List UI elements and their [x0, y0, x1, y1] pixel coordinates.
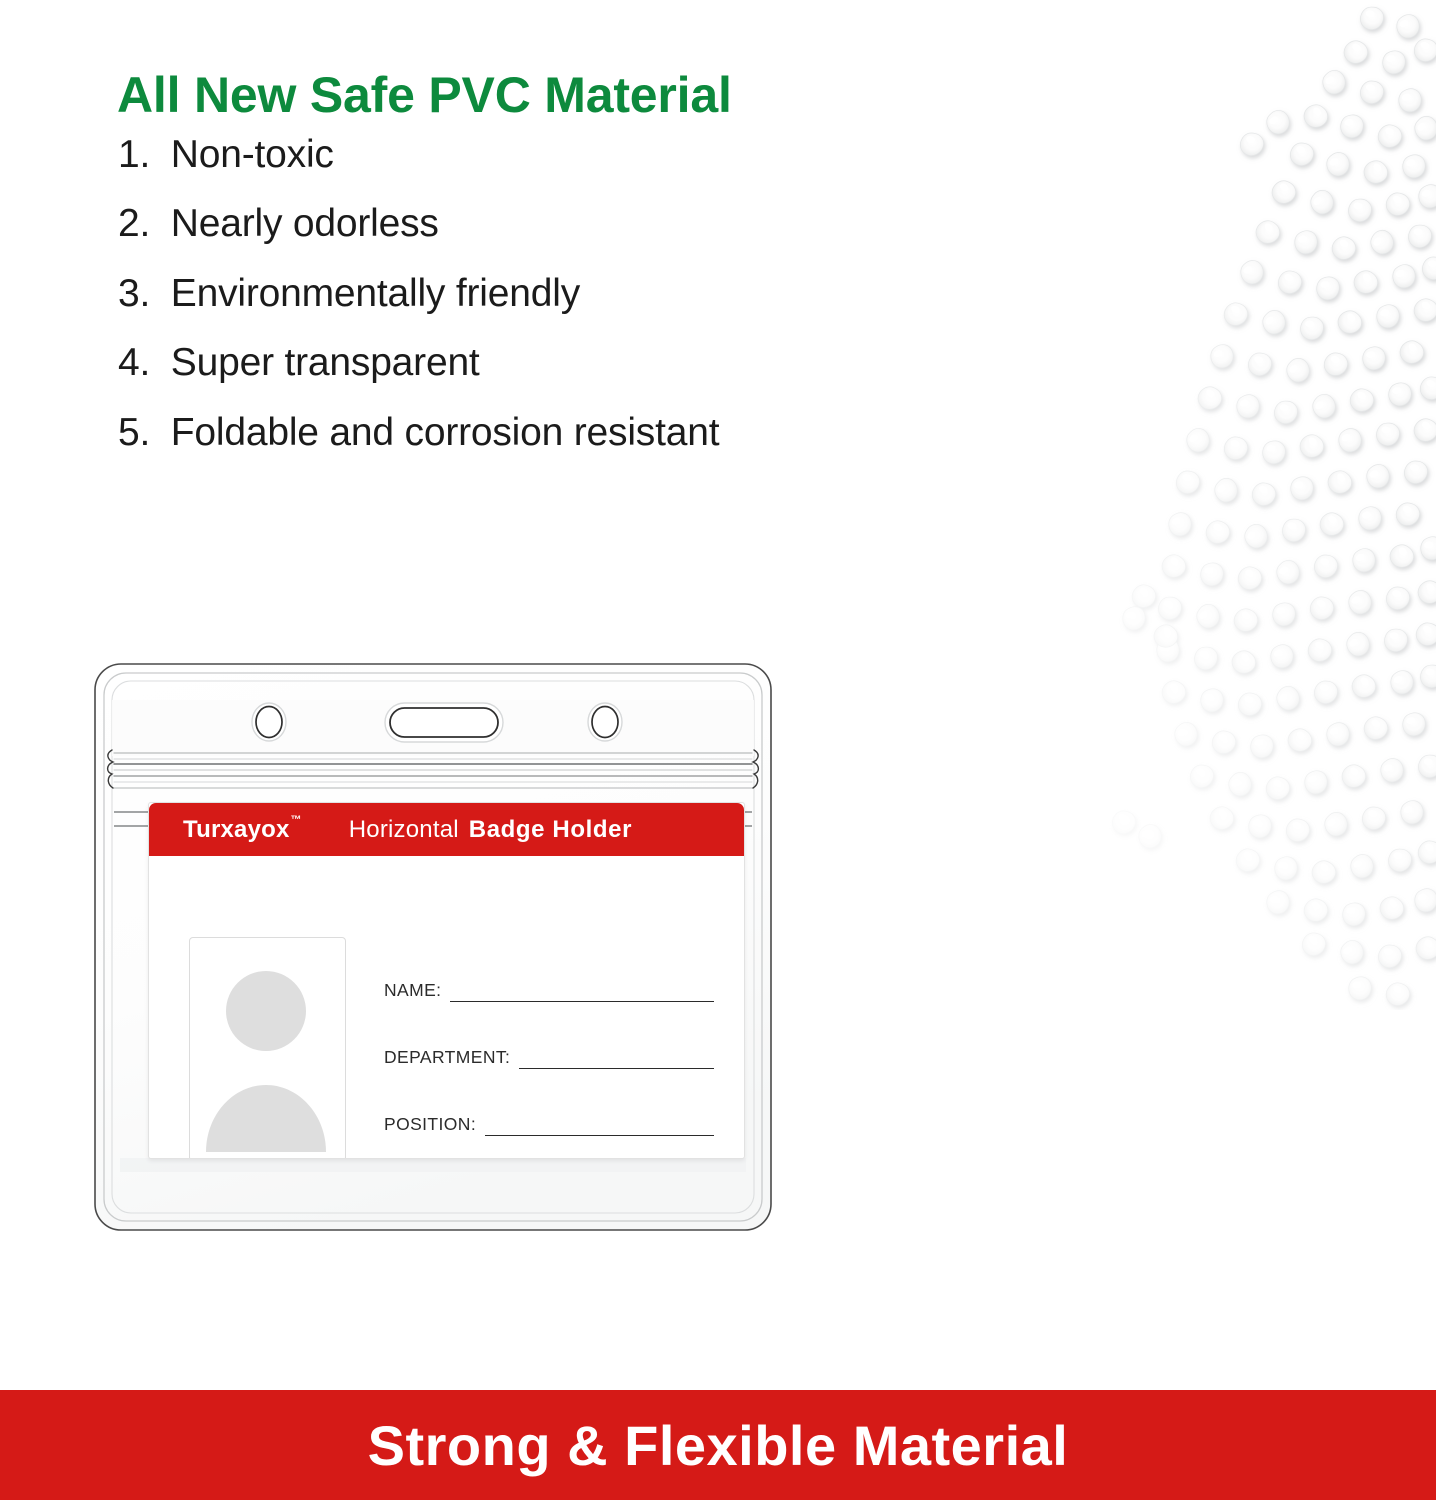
field-row-id: ID: — [384, 1136, 714, 1159]
list-item-label: Environmentally friendly — [171, 272, 580, 315]
field-row-department: DEPARTMENT: — [384, 1002, 714, 1069]
brand-name: Turxayox™ — [183, 816, 301, 844]
list-item-label: Super transparent — [171, 341, 480, 384]
list-item-label: Non-toxic — [171, 133, 334, 176]
person-avatar-icon — [190, 938, 343, 1158]
field-line-position[interactable] — [485, 1134, 714, 1136]
field-label-name: NAME: — [384, 980, 441, 1002]
card-body: NAME: DEPARTMENT: POSITION: ID: — [149, 856, 744, 1158]
card-fields: NAME: DEPARTMENT: POSITION: ID: — [384, 935, 714, 1159]
page-title: All New Safe PVC Material — [117, 67, 732, 123]
list-item: 2. Nearly odorless — [118, 189, 719, 258]
punch-hole-left — [252, 703, 286, 741]
feature-list: 1. Non-toxic 2. Nearly odorless 3. Envir… — [118, 120, 719, 467]
field-label-position: POSITION: — [384, 1114, 476, 1136]
list-item-number: 3. — [118, 259, 150, 328]
bottom-banner-text: Strong & Flexible Material — [368, 1413, 1069, 1478]
list-item-label: Nearly odorless — [171, 202, 439, 245]
bottom-banner: Strong & Flexible Material — [0, 1390, 1436, 1500]
brand-text: Turxayox — [183, 816, 290, 843]
field-label-department: DEPARTMENT: — [384, 1047, 510, 1069]
list-item-number: 2. — [118, 189, 150, 258]
id-card: Turxayox™ HorizontalBadge Holder NAME: D… — [148, 802, 745, 1159]
badge-holder-illustration: Turxayox™ HorizontalBadge Holder NAME: D… — [92, 660, 774, 1234]
card-header-band: Turxayox™ HorizontalBadge Holder — [149, 803, 744, 856]
card-title-regular: Horizontal — [349, 816, 459, 843]
field-row-position: POSITION: — [384, 1069, 714, 1136]
list-item-label: Foldable and corrosion resistant — [171, 411, 720, 454]
lanyard-slot — [385, 703, 503, 742]
list-item: 5. Foldable and corrosion resistant — [118, 398, 719, 467]
punch-hole-right — [588, 703, 622, 741]
field-row-name: NAME: — [384, 935, 714, 1002]
list-item: 3. Environmentally friendly — [118, 259, 719, 328]
trademark-symbol: ™ — [291, 814, 302, 826]
card-title-bold: Badge Holder — [469, 816, 632, 843]
list-item-number: 4. — [118, 328, 150, 397]
list-item-number: 5. — [118, 398, 150, 467]
list-item-number: 1. — [118, 120, 150, 189]
card-header-title: HorizontalBadge Holder — [349, 816, 632, 844]
list-item: 1. Non-toxic — [118, 120, 719, 189]
field-line-department[interactable] — [519, 1067, 714, 1069]
field-line-name[interactable] — [450, 1000, 714, 1002]
pvc-pellets-photo — [1016, 0, 1436, 1010]
list-item: 4. Super transparent — [118, 328, 719, 397]
photo-placeholder — [189, 937, 346, 1159]
